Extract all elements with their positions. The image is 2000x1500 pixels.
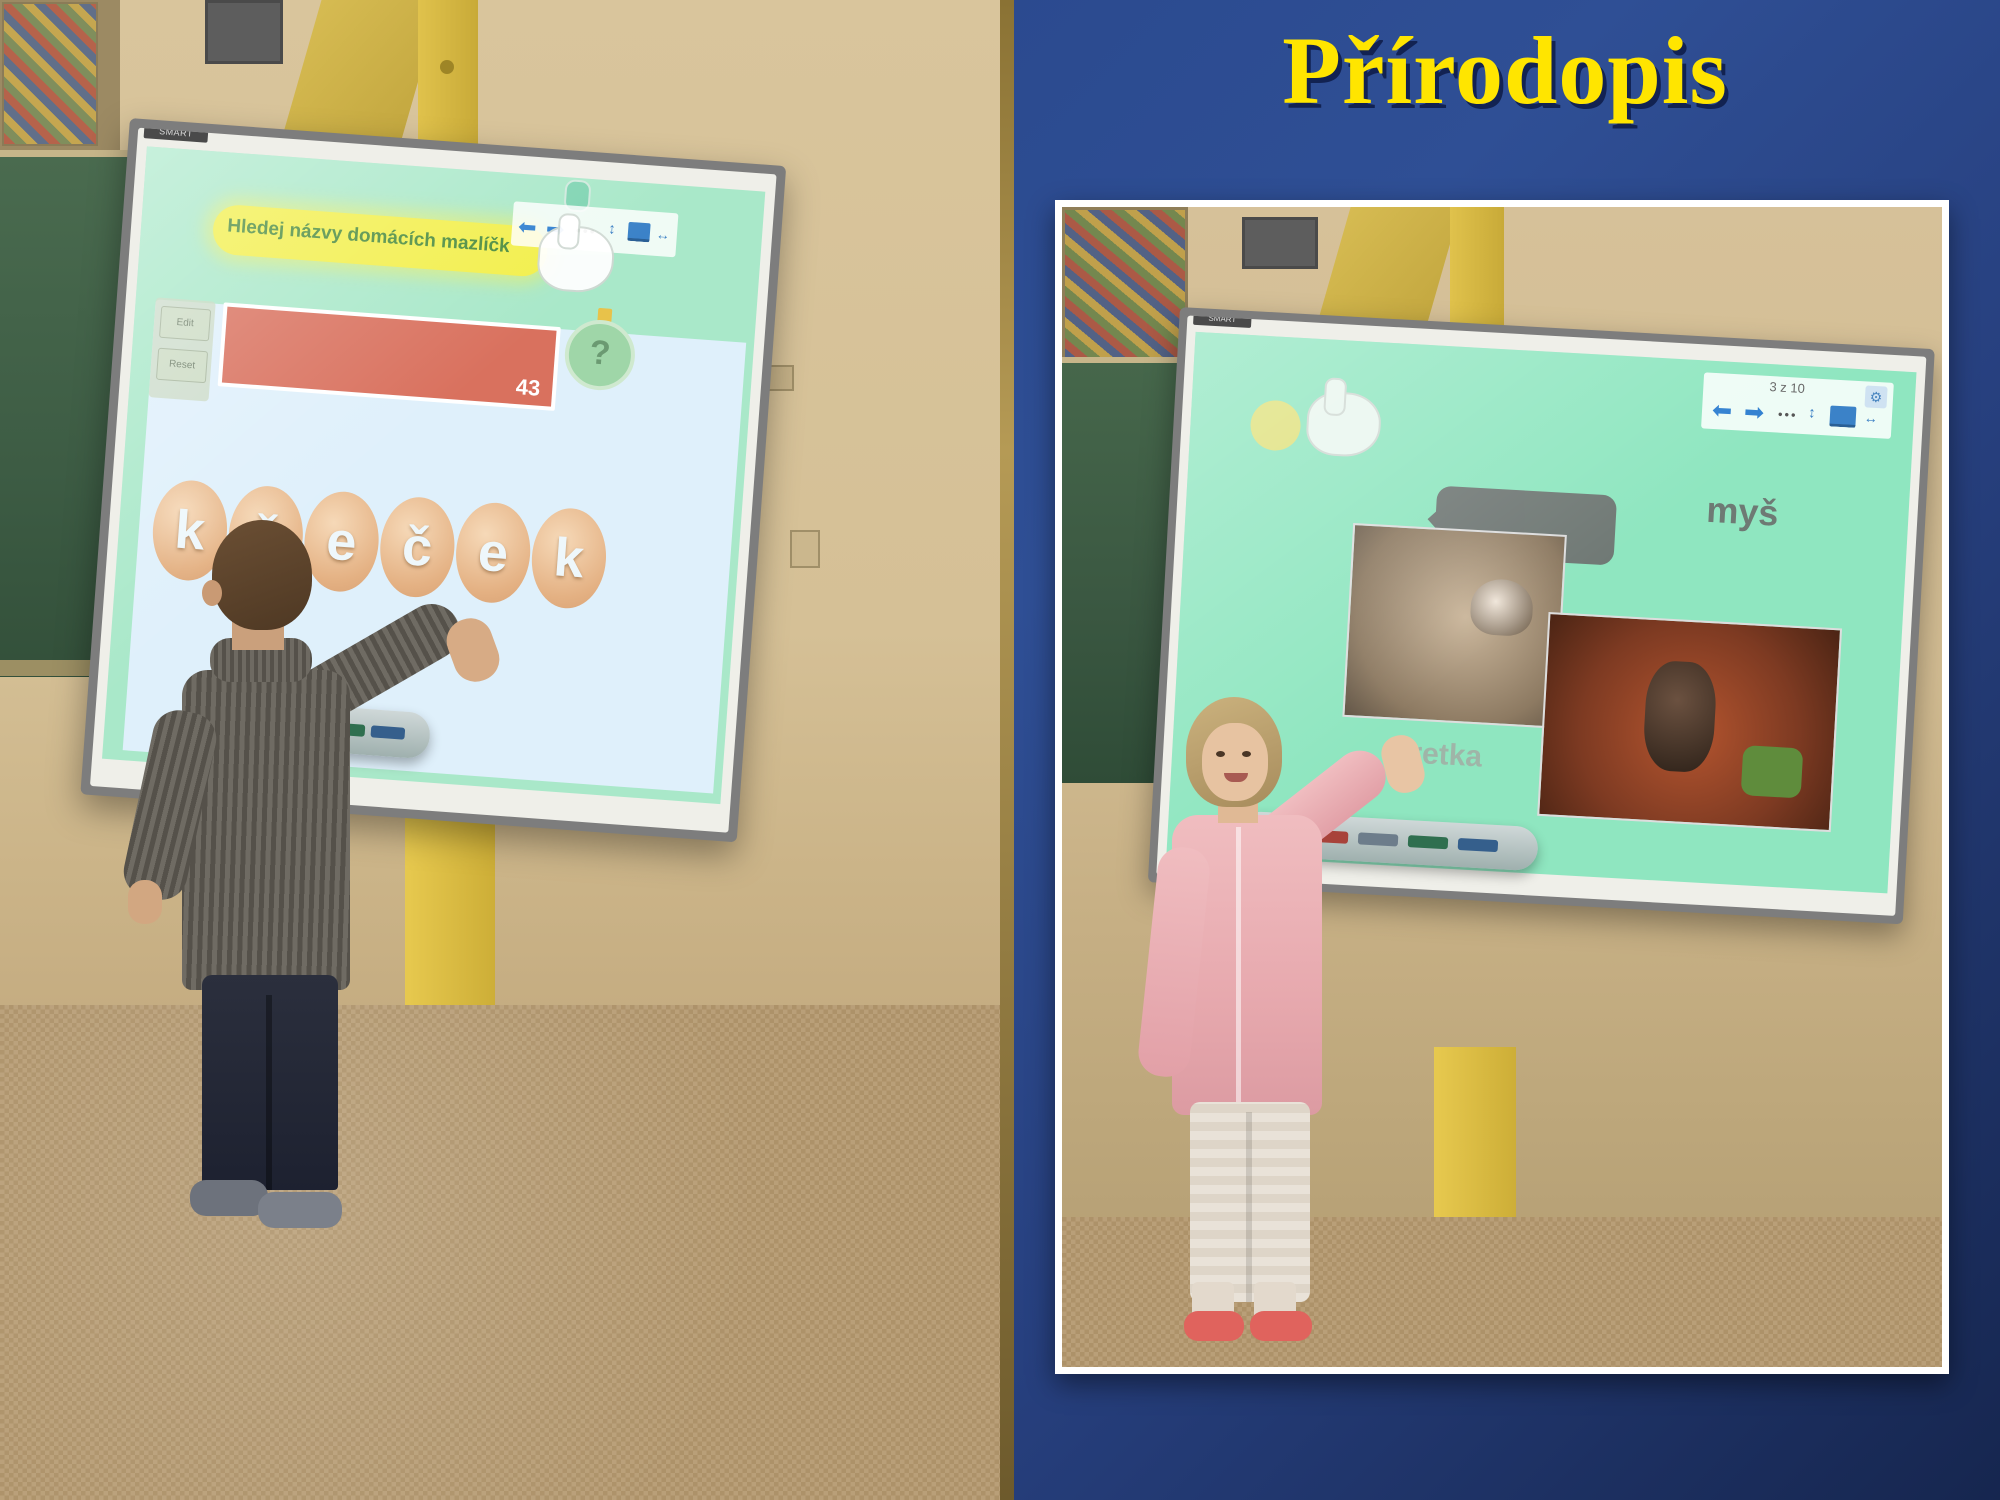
poster-image	[2, 2, 98, 146]
page-indicator: 3 z 10	[1769, 379, 1805, 396]
boy-head	[212, 520, 312, 630]
progress-value: 43	[515, 374, 541, 402]
projector-mount-box	[1242, 217, 1318, 269]
letter-bubble[interactable]: k	[528, 506, 609, 611]
girl-sandal	[1184, 1311, 1244, 1341]
smart-logo: SMART	[144, 128, 209, 143]
girl-leggings	[1190, 1102, 1310, 1302]
page-title: Přírodopis	[1010, 10, 2000, 130]
boy-shoe	[190, 1180, 268, 1216]
right-classroom-photo: SMART 3 z 10 ⚙ ⬅ ➡ ••• ↕ ↔	[1055, 200, 1949, 1374]
girl-sandal	[1250, 1311, 1312, 1341]
girl-face	[1202, 723, 1268, 801]
student-boy	[150, 520, 450, 1160]
back-arrow-icon[interactable]: ⬅	[1711, 399, 1732, 424]
back-arrow-icon[interactable]: ⬅	[517, 214, 537, 241]
sun-icon	[1249, 399, 1302, 452]
pen-slot[interactable]	[1458, 838, 1499, 852]
vegetable-detail	[1741, 745, 1804, 798]
expand-icon[interactable]: ↔	[655, 226, 670, 243]
task-banner-text: Hledej názvy domácích mazlíčk	[227, 215, 511, 258]
edit-button[interactable]: Edit	[159, 306, 211, 342]
monitor-icon[interactable]	[627, 222, 650, 243]
girl-eye	[1216, 751, 1225, 757]
mouse-photo[interactable]	[1537, 612, 1842, 832]
left-classroom-photo: SMART Hledej názvy domácích mazlíčk ⬅ ➡ …	[0, 0, 1003, 1500]
smart-logo: SMART	[1193, 315, 1252, 328]
pen-slot[interactable]	[1408, 835, 1449, 849]
letter-bubble[interactable]: e	[453, 500, 534, 605]
presentation-slide: SMART Hledej názvy domácích mazlíčk ⬅ ➡ …	[0, 0, 2000, 1500]
boy-jeans	[202, 975, 338, 1190]
girl-jacket-zipper	[1236, 827, 1241, 1107]
boy-shoe	[258, 1192, 342, 1228]
more-dots-icon[interactable]: •••	[1778, 407, 1798, 423]
girl-eye	[1242, 751, 1251, 757]
resize-icon[interactable]: ↕	[1808, 404, 1816, 421]
expand-icon[interactable]: ↔	[1863, 409, 1878, 426]
wall-socket	[790, 530, 820, 568]
screen-toolbar-right[interactable]: 3 z 10 ⚙ ⬅ ➡ ••• ↕ ↔	[1701, 372, 1894, 439]
label-mouse: myš	[1705, 489, 1779, 535]
student-girl	[1142, 697, 1402, 1337]
side-button-panel[interactable]: Edit Reset	[149, 297, 216, 401]
resize-icon[interactable]: ↕	[608, 220, 617, 238]
reset-button[interactable]: Reset	[156, 348, 208, 384]
boy-ear	[202, 580, 222, 606]
gear-icon[interactable]: ⚙	[1864, 385, 1887, 408]
forward-arrow-icon[interactable]: ➡	[1743, 401, 1764, 426]
task-banner: Hledej názvy domácích mazlíčk	[211, 203, 549, 277]
hand-cursor-icon	[1305, 390, 1382, 458]
boy-left-hand	[128, 880, 162, 924]
monitor-icon[interactable]	[1829, 405, 1856, 427]
projector-mount-box	[205, 0, 283, 64]
